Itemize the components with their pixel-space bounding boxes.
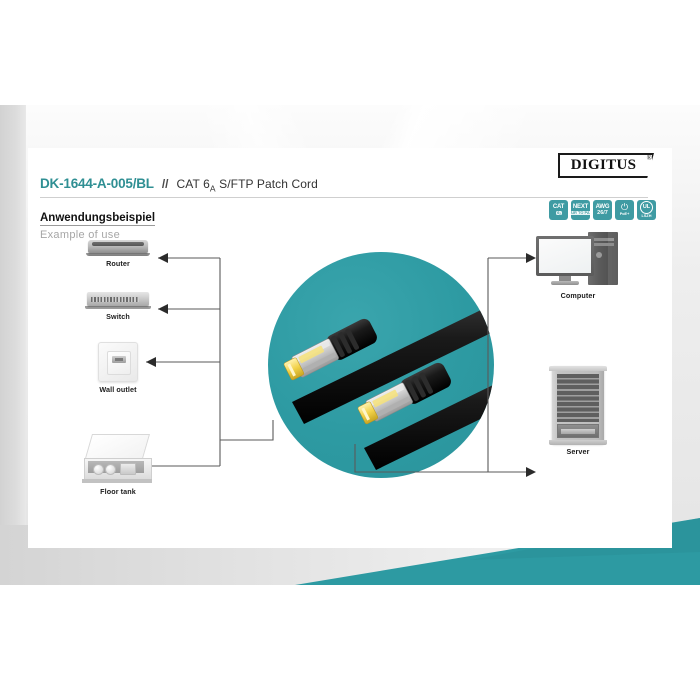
poe-badge-label: PoE+: [620, 213, 630, 217]
ul-circle-icon: UL: [640, 201, 653, 214]
digitus-logo: DIGITUS ®: [558, 153, 654, 178]
node-wall-outlet: Wall outlet: [80, 342, 156, 394]
product-datasheet-page: DIGITUS ® DK-1644-A-005/BL // CAT 6A S/F…: [0, 0, 700, 700]
node-floor-tank-label: Floor tank: [72, 487, 164, 496]
node-computer: Computer: [528, 232, 628, 300]
product-sku: DK-1644-A-005/BL: [40, 176, 154, 191]
switch-icon: [87, 292, 149, 306]
node-computer-label: Computer: [528, 291, 628, 300]
next-badge-line2: PAIR TO PAIR: [571, 211, 590, 215]
floor-tank-icon: [82, 434, 154, 484]
awg-badge: AWG 26/7: [593, 200, 612, 220]
poe-badge: ⏻ PoE+: [615, 200, 634, 220]
next-badge: NEXT PAIR TO PAIR: [571, 200, 590, 220]
feature-badges: CAT 6ₐ NEXT PAIR TO PAIR AWG 26/7 ⏻ PoE+…: [549, 200, 656, 220]
title-row: DK-1644-A-005/BL // CAT 6A S/FTP Patch C…: [40, 176, 660, 198]
ul-lszh-badge: UL LSZH: [637, 200, 656, 220]
node-router-label: Router: [80, 259, 156, 268]
node-switch: Switch: [80, 292, 156, 321]
product-description: CAT 6A S/FTP Patch Cord: [177, 177, 318, 193]
router-icon: [88, 240, 148, 253]
desc-prefix: CAT 6: [177, 177, 210, 191]
arrow-switch: [158, 304, 168, 314]
logo-registered-mark: ®: [647, 154, 652, 162]
poe-plug-icon: ⏻: [621, 203, 628, 212]
section-headings: Anwendungsbeispiel Example of use: [40, 208, 155, 241]
node-server: Server: [540, 366, 616, 456]
arrow-server: [526, 467, 536, 477]
server-icon: [552, 366, 604, 444]
node-server-label: Server: [540, 447, 616, 456]
awg-badge-line2: 26/7: [597, 211, 608, 217]
node-router: Router: [80, 240, 156, 268]
content-card: DIGITUS ® DK-1644-A-005/BL // CAT 6A S/F…: [28, 148, 672, 548]
cat6a-badge-line2: 6ₐ: [556, 211, 562, 215]
title-line: DK-1644-A-005/BL // CAT 6A S/FTP Patch C…: [40, 176, 648, 198]
awg-badge-line1: AWG: [596, 204, 610, 210]
title-separator: //: [162, 177, 169, 191]
heading-de: Anwendungsbeispiel: [40, 212, 155, 226]
application-diagram: Router Switch Wall outlet: [28, 244, 672, 544]
computer-icon: [536, 232, 620, 288]
lszh-badge-label: LSZH: [642, 215, 652, 219]
node-wall-outlet-label: Wall outlet: [80, 385, 156, 394]
logo-text: DIGITUS: [558, 153, 654, 178]
cat6a-badge: CAT 6ₐ: [549, 200, 568, 220]
arrow-router: [158, 253, 168, 263]
node-floor-tank: Floor tank: [72, 434, 164, 496]
node-switch-label: Switch: [80, 312, 156, 321]
wall-outlet-icon: [98, 342, 138, 382]
desc-suffix: S/FTP Patch Cord: [216, 177, 318, 191]
